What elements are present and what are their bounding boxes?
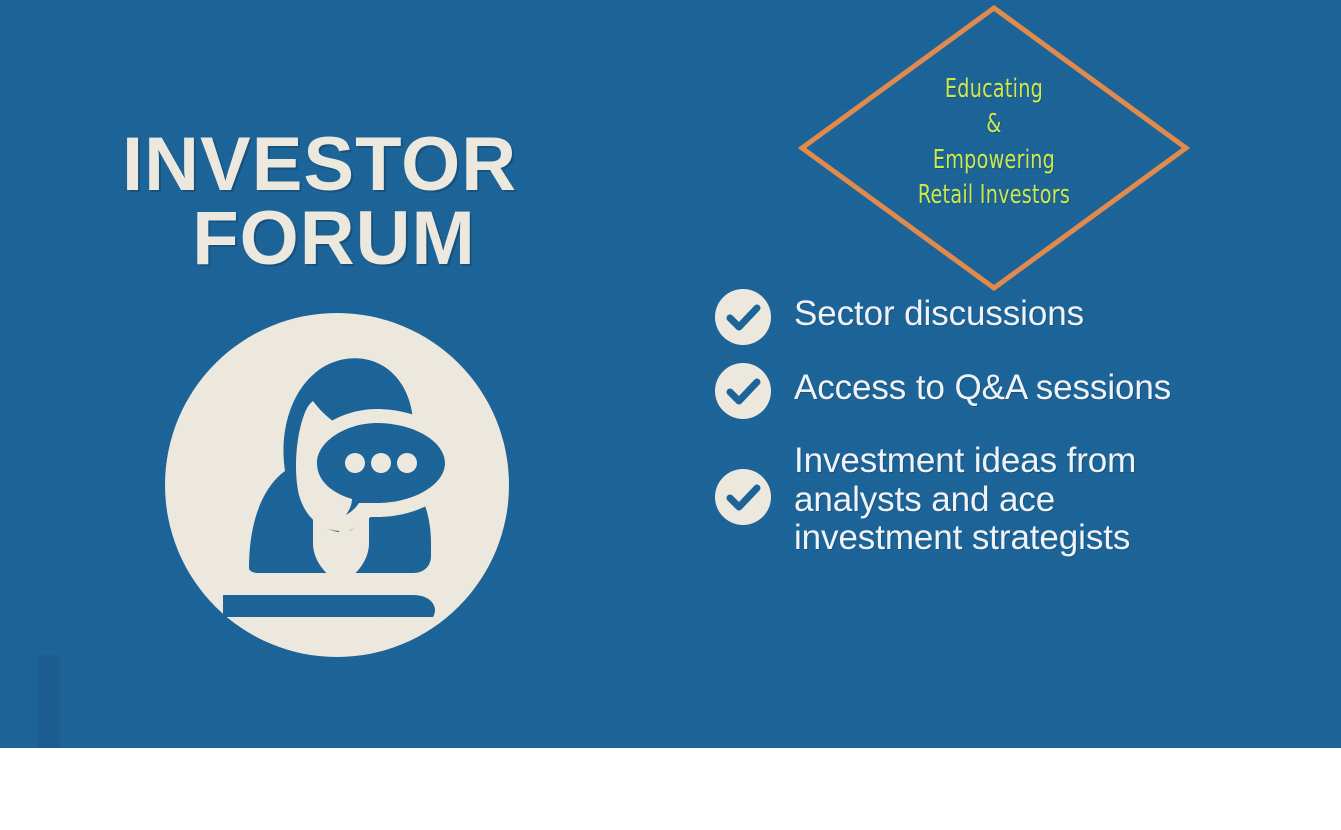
list-item-label: Investment ideas from analysts and ace i… (794, 442, 1136, 558)
check-circle-icon (714, 362, 772, 420)
diamond-badge: Educating & Empowering Retail Investors (798, 4, 1190, 292)
bullet-2-line-1: Access to Q&A sessions (794, 369, 1171, 408)
diamond-text-line-3: Empowering (833, 143, 1154, 178)
title-line-2: FORUM (118, 202, 598, 276)
title-line-1: INVESTOR (118, 128, 598, 202)
person-with-speech-bubble-icon (163, 311, 511, 659)
diamond-text-line-2: & (833, 107, 1154, 142)
panel-shadow-artifact (38, 655, 60, 749)
page-title: INVESTOR FORUM (118, 128, 598, 277)
list-item-label: Sector discussions (794, 288, 1084, 334)
check-circle-icon (714, 288, 772, 346)
feature-bullet-list: Sector discussions Access to Q& (714, 288, 1274, 558)
list-item: Sector discussions (714, 288, 1274, 346)
list-item: Investment ideas from analysts and ace i… (714, 442, 1274, 558)
list-item-label: Access to Q&A sessions (794, 362, 1171, 408)
diamond-text-line-1: Educating (833, 72, 1154, 107)
list-item: Access to Q&A sessions (714, 362, 1274, 420)
slide-canvas: INVESTOR FORUM (0, 0, 1341, 830)
diamond-badge-text: Educating & Empowering Retail Investors (833, 72, 1154, 213)
bullet-3-line-2: analysts and ace (794, 481, 1136, 520)
bullet-1-line-1: Sector discussions (794, 295, 1084, 334)
bullet-3-line-3: investment strategists (794, 519, 1136, 558)
check-circle-icon (714, 468, 772, 526)
bottom-white-band (0, 748, 1341, 830)
bullet-3-line-1: Investment ideas from (794, 442, 1136, 481)
diamond-text-line-4: Retail Investors (833, 178, 1154, 213)
